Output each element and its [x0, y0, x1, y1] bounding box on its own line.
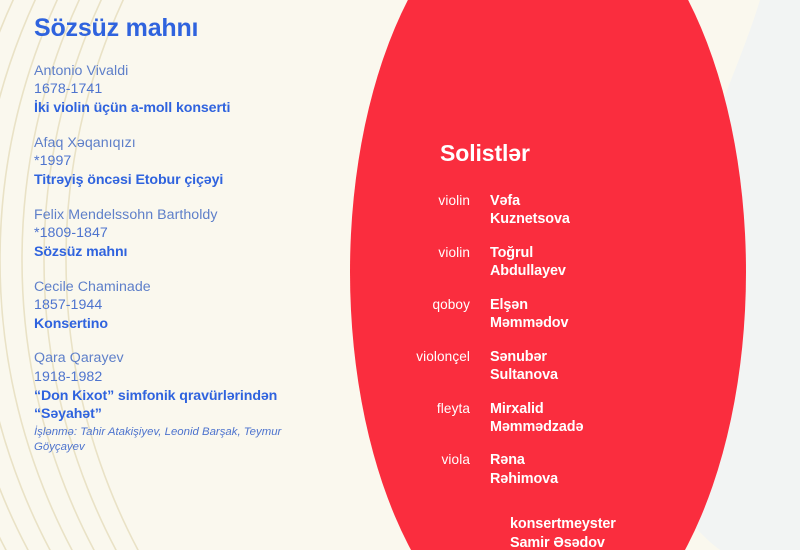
- work-item: Qara Qarayev 1918-1982 “Don Kixot” simfo…: [34, 349, 334, 455]
- soloist-name: Sənubər Sultanova: [490, 348, 558, 385]
- work-dates: 1857-1944: [34, 296, 334, 315]
- work-arrangement-note: İşlənmə: Tahir Atakişiyev, Leonid Barşak…: [34, 425, 334, 455]
- soloist-instrument: viola: [398, 451, 490, 468]
- list-item: fleyta Mirxalid Məmmədzadə: [398, 400, 658, 437]
- work-item: Antonio Vivaldi 1678-1741 İki violin üçü…: [34, 62, 334, 118]
- work-dates: 1918-1982: [34, 368, 334, 387]
- work-item: Cecile Chaminade 1857-1944 Konsertino: [34, 278, 334, 334]
- concertmaster-block: konsertmeyster Samir Əsədov: [510, 515, 658, 550]
- work-item: Felix Mendelssohn Bartholdy *1809-1847 S…: [34, 206, 334, 262]
- concertmaster-name: Samir Əsədov: [510, 534, 658, 550]
- work-composer: Cecile Chaminade: [34, 278, 334, 297]
- soloist-name: Mirxalid Məmmədzadə: [490, 400, 583, 437]
- soloist-instrument: violin: [398, 192, 490, 209]
- work-piece: Titrəyiş öncəsi Etobur çiçəyi: [34, 171, 334, 189]
- work-composer: Qara Qarayev: [34, 349, 334, 368]
- soloist-instrument: violin: [398, 244, 490, 261]
- work-piece: İki violin üçün a-moll konserti: [34, 99, 334, 117]
- list-item: viola Rəna Rəhimova: [398, 451, 658, 488]
- work-dates: 1678-1741: [34, 80, 334, 99]
- list-item: violin Toğrul Abdullayev: [398, 244, 658, 281]
- work-composer: Felix Mendelssohn Bartholdy: [34, 206, 334, 225]
- work-piece: Sözsüz mahnı: [34, 243, 334, 261]
- soloist-instrument: qoboy: [398, 296, 490, 313]
- concertmaster-role: konsertmeyster: [510, 515, 658, 533]
- work-composer: Antonio Vivaldi: [34, 62, 334, 81]
- work-piece: Konsertino: [34, 315, 334, 333]
- list-item: violin Vəfa Kuznetsova: [398, 192, 658, 229]
- work-dates: *1997: [34, 152, 334, 171]
- soloists-section: Solistlər violin Vəfa Kuznetsova violin …: [398, 140, 658, 550]
- soloist-name: Elşən Məmmədov: [490, 296, 568, 333]
- poster-canvas: Sözsüz mahnı Antonio Vivaldi 1678-1741 İ…: [0, 0, 800, 550]
- soloist-name: Toğrul Abdullayev: [490, 244, 566, 281]
- programme-section: Sözsüz mahnı Antonio Vivaldi 1678-1741 İ…: [34, 14, 334, 471]
- work-piece: “Don Kixot” simfonik qravürlərindən “Səy…: [34, 387, 334, 424]
- work-composer: Afaq Xəqanıqızı: [34, 134, 334, 153]
- work-item: Afaq Xəqanıqızı *1997 Titrəyiş öncəsi Et…: [34, 134, 334, 190]
- soloist-name: Vəfa Kuznetsova: [490, 192, 570, 229]
- soloists-title: Solistlər: [440, 140, 658, 167]
- soloist-name: Rəna Rəhimova: [490, 451, 558, 488]
- soloist-instrument: violonçel: [398, 348, 490, 365]
- page-title: Sözsüz mahnı: [34, 14, 334, 43]
- list-item: qoboy Elşən Məmmədov: [398, 296, 658, 333]
- work-dates: *1809-1847: [34, 224, 334, 243]
- list-item: violonçel Sənubər Sultanova: [398, 348, 658, 385]
- soloist-instrument: fleyta: [398, 400, 490, 417]
